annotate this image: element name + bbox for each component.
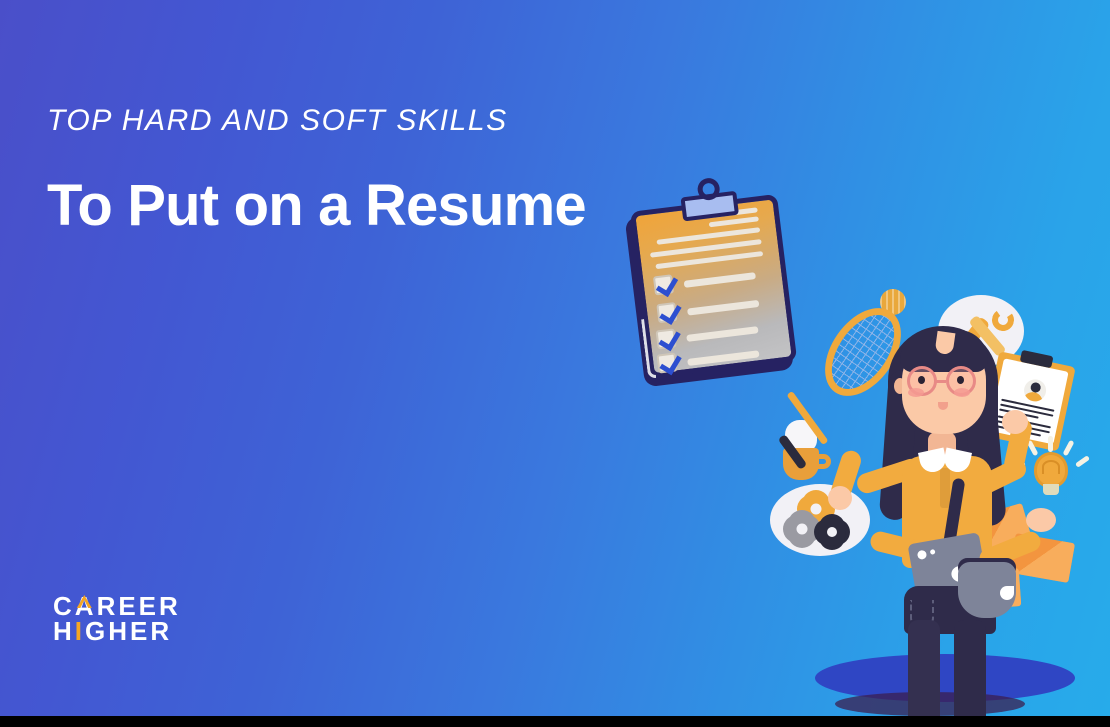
- hand-right: [1002, 410, 1028, 434]
- leg-right: [954, 620, 986, 716]
- bottom-black-bar: [0, 716, 1110, 727]
- check-icon: [659, 351, 681, 375]
- logo-line-higher: HIGHER: [53, 619, 233, 644]
- hand-left: [828, 486, 852, 510]
- gear-hole: [827, 527, 837, 537]
- page-title: To Put on a Resume: [47, 172, 586, 239]
- check-icon: [656, 273, 678, 297]
- check-icon: [659, 301, 681, 325]
- logo-text-gher: GHER: [85, 616, 172, 646]
- sweater-placket: [940, 468, 950, 508]
- clipboard-checkbox[interactable]: [656, 302, 677, 323]
- clipboard-line: [709, 216, 759, 227]
- tablet-camera: [917, 550, 927, 560]
- bag-logo: [1000, 586, 1014, 600]
- clipboard-checkbox[interactable]: [656, 328, 677, 349]
- gear-hole: [811, 504, 822, 515]
- hero-illustration: [620, 180, 1110, 716]
- leg-left: [908, 620, 940, 716]
- gear-hole: [797, 524, 808, 535]
- racket-shaft: [786, 391, 828, 445]
- eyebrow-text: TOP HARD AND SOFT SKILLS: [47, 104, 508, 138]
- eye-left: [918, 376, 925, 384]
- logo-accent-letter-i: I: [75, 616, 85, 646]
- check-icon: [658, 327, 680, 351]
- hand-lower-right: [1026, 508, 1056, 532]
- gear-icon-gray: [787, 514, 817, 544]
- cheek-left: [908, 388, 924, 397]
- character-illustration: [850, 300, 1080, 700]
- cheek-right: [954, 388, 970, 397]
- eye-right: [957, 376, 964, 384]
- gear-icon-navy: [818, 518, 846, 546]
- glasses-bridge: [934, 380, 946, 383]
- checklist-clipboard-icon: [614, 180, 817, 400]
- careerhigher-logo[interactable]: CAREER HIGHER: [53, 594, 233, 646]
- tablet-sensor: [930, 549, 936, 555]
- logo-text-h: H: [53, 616, 75, 646]
- clipboard-item-line: [686, 326, 758, 342]
- clipboard-paper: [630, 194, 797, 379]
- clipboard-checkbox[interactable]: [656, 352, 677, 373]
- clipboard-item-line: [687, 300, 759, 316]
- clipboard-checkbox[interactable]: [653, 274, 674, 295]
- clipboard-item-line: [687, 350, 759, 366]
- clipboard-item-line: [684, 272, 756, 288]
- hero-banner: TOP HARD AND SOFT SKILLS To Put on a Res…: [0, 0, 1110, 716]
